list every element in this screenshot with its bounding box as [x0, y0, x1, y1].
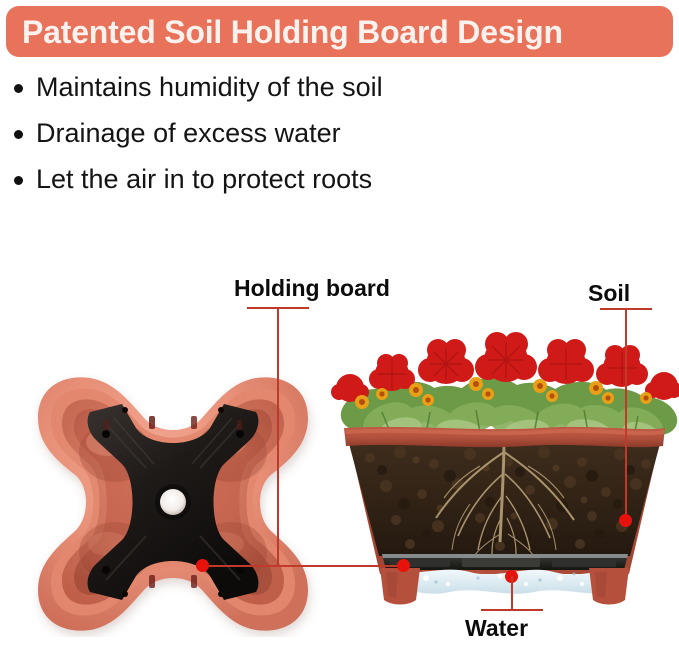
- label-soil: Soil: [588, 280, 630, 307]
- holding-board-bottom: [382, 554, 628, 570]
- list-item: Drainage of excess water: [14, 116, 574, 162]
- pot-foot-right: [589, 568, 629, 605]
- header-banner: Patented Soil Holding Board Design: [6, 6, 673, 57]
- quatrefoil-pot-illustration: [18, 372, 328, 637]
- soil-leader-vertical: [625, 308, 627, 520]
- pot-top-view-graphic: [18, 372, 328, 637]
- product-diagram: Holding board Soil Water: [0, 258, 679, 652]
- water-leader-cap: [481, 609, 543, 611]
- label-water: Water: [465, 615, 528, 642]
- bullet-dot-icon: [14, 130, 23, 139]
- pot-foot-left: [380, 568, 420, 605]
- soil-marker: [619, 514, 632, 527]
- holding-board-marker-right: [397, 559, 410, 572]
- feature-text: Maintains humidity of the soil: [36, 70, 383, 104]
- page-title: Patented Soil Holding Board Design: [6, 16, 563, 48]
- holding-board-leader-horizontal: [202, 565, 405, 567]
- bullet-dot-icon: [14, 176, 23, 185]
- feature-list: Maintains humidity of the soil Drainage …: [14, 70, 574, 208]
- list-item: Maintains humidity of the soil: [14, 70, 574, 116]
- label-holding-board: Holding board: [234, 275, 390, 302]
- list-item: Let the air in to protect roots: [14, 162, 574, 208]
- infographic-page: Patented Soil Holding Board Design Maint…: [0, 0, 679, 652]
- water-leader-vertical: [511, 576, 513, 610]
- holding-board-marker-left: [196, 559, 209, 572]
- bullet-dot-icon: [14, 84, 23, 93]
- feature-text: Drainage of excess water: [36, 116, 341, 150]
- feature-text: Let the air in to protect roots: [36, 162, 372, 196]
- holding-board-leader-vertical: [277, 307, 279, 566]
